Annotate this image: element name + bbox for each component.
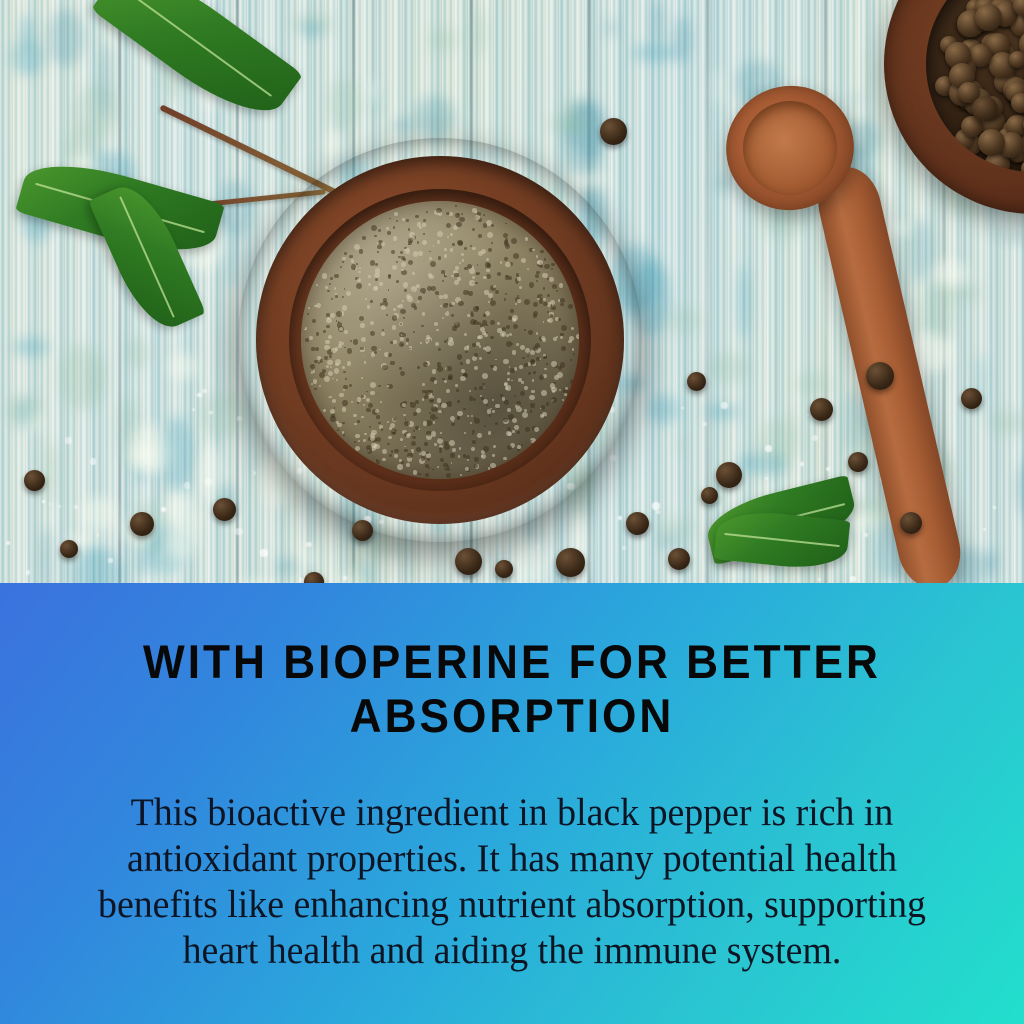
- pepper-granule: [421, 325, 424, 328]
- paint-chip: [977, 354, 985, 416]
- paint-chip: [301, 22, 323, 37]
- pepper-granule: [476, 272, 479, 275]
- pepper-granule: [400, 337, 404, 341]
- pepper-granule: [436, 417, 438, 419]
- pepper-granule: [413, 251, 419, 257]
- pepper-granule: [373, 286, 378, 291]
- pepper-granule: [334, 368, 340, 374]
- pepper-granule: [488, 248, 492, 252]
- pepper-granule: [444, 248, 446, 250]
- pepper-granule: [503, 457, 507, 461]
- pepper-granule: [505, 293, 507, 295]
- pepper-granule: [342, 342, 344, 344]
- pepper-granule: [458, 301, 463, 306]
- pepper-granule: [474, 353, 478, 357]
- pepper-granule: [413, 470, 418, 475]
- pepper-granule: [389, 218, 391, 220]
- pepper-granule: [322, 273, 328, 279]
- pepper-granule: [400, 438, 403, 441]
- pepper-granule: [347, 361, 351, 365]
- pepper-granule: [334, 407, 336, 409]
- pepper-granule: [435, 342, 439, 346]
- pepper-granule: [471, 447, 475, 451]
- pepper-granule: [434, 380, 438, 384]
- pepper-granule: [560, 303, 563, 306]
- paint-chip: [100, 44, 112, 118]
- pepper-granule: [481, 454, 486, 459]
- pepper-powder-bowl: [238, 138, 642, 542]
- pepper-granule: [509, 366, 511, 368]
- pepper-granule: [417, 241, 420, 244]
- body-copy: This bioactive ingredient in black peppe…: [23, 790, 1001, 974]
- pepper-granule: [552, 390, 555, 393]
- pepper-granule: [528, 330, 533, 335]
- salt-fleck: [58, 505, 61, 508]
- pepper-granule: [331, 298, 333, 300]
- pepper-granule: [391, 250, 395, 254]
- pepper-granule: [463, 408, 466, 411]
- pepper-granule: [460, 376, 466, 382]
- pepper-granule: [429, 251, 431, 253]
- pepper-granule: [506, 325, 510, 329]
- pepper-granule: [486, 269, 489, 272]
- pepper-granule: [511, 380, 513, 382]
- salt-fleck: [6, 541, 10, 545]
- pepper-granule: [423, 219, 426, 222]
- pepper-granule: [396, 220, 398, 222]
- pepper-granule: [337, 423, 341, 427]
- pepper-granule: [361, 337, 366, 342]
- salt-fleck: [818, 578, 821, 581]
- pepper-granule: [468, 291, 472, 295]
- pepper-granule: [382, 365, 388, 371]
- pepper-granule: [329, 283, 331, 285]
- pepper-granule: [406, 463, 410, 467]
- pepper-granule: [359, 267, 361, 269]
- pepper-granule: [469, 280, 474, 285]
- salt-fleck: [209, 411, 212, 414]
- pepper-granule: [328, 335, 332, 339]
- pepper-granule: [327, 290, 330, 293]
- pepper-granule: [424, 442, 428, 446]
- pepper-granule: [472, 247, 476, 251]
- pepper-granule: [456, 389, 459, 392]
- pepper-granule: [339, 393, 344, 398]
- pepper-granule: [541, 405, 545, 409]
- pepper-granule: [469, 268, 475, 274]
- pepper-granule: [351, 259, 355, 263]
- pepper-granule: [463, 454, 467, 458]
- pepper-granule: [437, 366, 443, 372]
- pepper-granule: [430, 261, 436, 267]
- pepper-granule: [533, 302, 538, 307]
- pepper-granule: [570, 359, 572, 361]
- pepper-granule: [503, 359, 508, 364]
- pepper-granule: [336, 379, 338, 381]
- peppercorn: [24, 470, 45, 491]
- pepper-granule: [368, 275, 370, 277]
- pepper-granule: [335, 295, 338, 298]
- pepper-granule: [558, 366, 562, 370]
- pepper-granule: [548, 318, 553, 323]
- pepper-granule: [486, 324, 488, 326]
- pepper-granule: [482, 373, 488, 379]
- pepper-granule: [423, 233, 425, 235]
- pepper-granule: [433, 245, 435, 247]
- pepper-granule: [316, 284, 318, 286]
- pepper-granule: [418, 296, 421, 299]
- pepper-granule: [392, 265, 397, 270]
- pepper-granule: [371, 430, 376, 435]
- pepper-granule: [357, 420, 360, 423]
- pepper-granule: [311, 347, 315, 351]
- paint-chip: [790, 408, 799, 458]
- paint-chip: [413, 96, 456, 139]
- pepper-granule: [551, 263, 555, 267]
- pepper-granule: [475, 215, 479, 219]
- pepper-granule: [354, 423, 356, 425]
- pepper-granule: [374, 235, 377, 238]
- headline-line-2: ABSORPTION: [31, 689, 994, 743]
- pepper-granule: [368, 283, 372, 287]
- pepper-granule: [402, 218, 405, 221]
- peppercorn: [556, 548, 585, 577]
- headline: WITH BIOPERINE FOR BETTER ABSORPTION: [31, 635, 994, 743]
- pepper-granule: [370, 382, 376, 388]
- pepper-granule: [488, 431, 492, 435]
- pepper-granule: [342, 257, 345, 260]
- paint-chip: [909, 219, 931, 284]
- pepper-granule: [527, 268, 529, 270]
- paint-chip: [162, 416, 193, 493]
- pepper-granule: [375, 409, 379, 413]
- pepper-granule: [495, 404, 500, 409]
- pepper-granule: [387, 385, 389, 387]
- pepper-granule: [406, 434, 410, 438]
- pepper-granule: [381, 428, 384, 431]
- pepper-granule: [406, 219, 409, 222]
- pepper-granule: [479, 357, 483, 361]
- pepper-granule: [511, 238, 517, 244]
- pepper-granule: [360, 347, 363, 350]
- pepper-granule: [402, 300, 404, 302]
- paint-chip: [677, 434, 685, 454]
- pepper-granule: [344, 330, 348, 334]
- pepper-granule: [531, 390, 535, 394]
- pepper-granule: [312, 319, 316, 323]
- pepper-granule: [544, 264, 550, 270]
- pepper-granule: [428, 467, 430, 469]
- pepper-granule: [368, 403, 373, 408]
- pepper-granule: [459, 447, 461, 449]
- pepper-granule: [568, 304, 573, 309]
- pepper-granule: [358, 440, 360, 442]
- pepper-granule: [457, 354, 462, 359]
- pepper-granule: [407, 453, 412, 458]
- pepper-granule: [432, 369, 437, 374]
- salt-fleck: [184, 482, 191, 489]
- pepper-granule: [430, 414, 436, 420]
- pepper-granule: [451, 422, 455, 426]
- pepper-granule: [408, 238, 414, 244]
- pepper-granule: [467, 459, 469, 461]
- pepper-granule: [308, 307, 310, 309]
- pepper-granule: [556, 290, 558, 292]
- pepper-granule: [458, 241, 462, 245]
- pepper-granule: [437, 231, 443, 237]
- pepper-granule: [472, 276, 475, 279]
- pepper-granule: [446, 223, 451, 228]
- pepper-granule: [536, 280, 538, 282]
- salt-fleck: [610, 455, 616, 461]
- pepper-granule: [527, 355, 529, 357]
- pepper-granule: [504, 383, 507, 386]
- pepper-granule: [533, 314, 537, 318]
- pepper-granule: [444, 254, 448, 258]
- pepper-granule: [412, 436, 416, 440]
- pepper-granule: [342, 422, 345, 425]
- pepper-granule: [412, 272, 415, 275]
- pepper-granule: [492, 454, 494, 456]
- salt-fleck: [235, 528, 243, 536]
- pepper-granule: [414, 306, 418, 310]
- whole-peppercorns: [926, 0, 1024, 172]
- pepper-granule: [375, 263, 378, 266]
- pepper-granule: [477, 264, 479, 266]
- pepper-granule: [387, 421, 389, 423]
- pepper-granule: [329, 396, 331, 398]
- paint-chip: [739, 265, 750, 338]
- pepper-granule: [388, 436, 391, 439]
- spoon-hollow: [731, 90, 848, 207]
- pepper-granule: [495, 422, 498, 425]
- pepper-granule: [483, 399, 488, 404]
- pepper-granule: [440, 432, 442, 434]
- pepper-granule: [313, 379, 317, 383]
- pepper-granule: [406, 342, 408, 344]
- pepper-granule: [561, 325, 567, 331]
- paint-chip: [43, 440, 59, 506]
- pepper-granule: [532, 379, 535, 382]
- pepper-granule: [537, 260, 542, 265]
- pepper-granule: [386, 227, 389, 230]
- pepper-granule: [361, 377, 363, 379]
- pepper-granule: [376, 415, 379, 418]
- pepper-granule: [446, 473, 451, 478]
- pepper-granule: [330, 277, 334, 281]
- pepper-granule: [478, 234, 482, 238]
- pepper-granule: [474, 387, 476, 389]
- pepper-granule: [335, 347, 338, 350]
- salt-fleck: [299, 578, 304, 583]
- salt-fleck: [800, 462, 803, 465]
- salt-fleck: [90, 458, 96, 464]
- pepper-granule: [524, 329, 526, 331]
- pepper-granule: [434, 322, 438, 326]
- pepper-granule: [309, 336, 313, 340]
- pepper-granule: [402, 403, 406, 407]
- pepper-granule: [562, 399, 564, 401]
- salt-fleck: [260, 549, 268, 557]
- pepper-granule: [484, 387, 486, 389]
- pepper-granule: [418, 473, 420, 475]
- pepper-granule: [431, 431, 437, 437]
- pepper-granule: [366, 408, 370, 412]
- pepper-granule: [482, 383, 485, 386]
- pepper-granule: [420, 342, 422, 344]
- salt-fleck: [161, 507, 166, 512]
- peppercorn: [810, 398, 833, 421]
- pepper-granule: [440, 458, 444, 462]
- pepper-granule: [466, 359, 471, 364]
- pepper-granule: [416, 447, 421, 452]
- pepper-granule: [490, 336, 493, 339]
- pepper-granule: [399, 342, 405, 348]
- pepper-granule: [517, 449, 519, 451]
- pepper-granule: [314, 388, 316, 390]
- pepper-granule: [507, 408, 511, 412]
- pepper-granule: [521, 258, 526, 263]
- pepper-granule: [535, 343, 540, 348]
- pepper-granule: [374, 273, 380, 279]
- paint-chip: [367, 79, 381, 106]
- pepper-granule: [449, 212, 453, 216]
- paint-chip: [137, 551, 148, 577]
- pepper-granule: [379, 349, 381, 351]
- pepper-granule: [490, 300, 496, 306]
- pepper-granule: [397, 464, 402, 469]
- pepper-granule: [334, 274, 339, 279]
- pepper-granule: [436, 329, 439, 332]
- pepper-granule: [546, 363, 548, 365]
- pepper-granule: [344, 288, 346, 290]
- pepper-granule: [389, 454, 392, 457]
- salt-fleck: [850, 576, 856, 582]
- pepper-granule: [391, 450, 393, 452]
- peppercorn: [213, 498, 236, 521]
- salt-fleck: [652, 502, 660, 510]
- pepper-granule: [396, 261, 398, 263]
- pepper-granule: [452, 448, 456, 452]
- pepper-granule: [491, 224, 494, 227]
- pepper-granule: [374, 351, 377, 354]
- paint-chip: [783, 576, 834, 583]
- pepper-granule: [516, 401, 521, 406]
- pepper-granule: [374, 444, 380, 450]
- pepper-granule: [409, 348, 411, 350]
- pepper-granule: [543, 321, 545, 323]
- pepper-granule: [426, 211, 428, 213]
- pepper-granule: [507, 445, 512, 450]
- pepper-granule: [334, 287, 337, 290]
- ground-pepper: [301, 201, 580, 480]
- pepper-granule: [367, 448, 373, 454]
- paint-chip: [163, 487, 200, 561]
- paint-chip: [714, 68, 722, 105]
- pepper-granule: [319, 372, 325, 378]
- pepper-granule: [408, 260, 413, 265]
- pepper-granule: [379, 282, 383, 286]
- pepper-granule: [367, 305, 370, 308]
- pepper-granule: [422, 223, 425, 226]
- pepper-granule: [416, 284, 420, 288]
- pepper-granule: [524, 299, 530, 305]
- pepper-granule: [444, 380, 447, 383]
- pepper-granule: [452, 243, 455, 246]
- pepper-granule: [342, 407, 347, 412]
- pepper-granule: [353, 414, 357, 418]
- pepper-granule: [342, 400, 347, 405]
- pepper-granule: [512, 350, 516, 354]
- pepper-granule: [564, 393, 567, 396]
- pepper-granule: [423, 292, 425, 294]
- pepper-granule: [534, 427, 539, 432]
- pepper-granule: [364, 433, 366, 435]
- pepper-granule: [310, 364, 315, 369]
- pepper-granule: [497, 322, 500, 325]
- pepper-granule: [388, 353, 392, 357]
- pepper-granule: [442, 280, 444, 282]
- pepper-granule: [492, 399, 494, 401]
- pepper-granule: [474, 457, 479, 462]
- pepper-granule: [393, 226, 395, 228]
- salt-fleck: [253, 471, 256, 474]
- pepper-granule: [492, 410, 495, 413]
- pepper-granule: [447, 236, 449, 238]
- pepper-granule: [452, 326, 456, 330]
- pepper-granule: [437, 438, 443, 444]
- pepper-granule: [483, 223, 488, 228]
- pepper-granule: [487, 263, 491, 267]
- salt-fleck: [721, 402, 728, 409]
- pepper-granule: [349, 384, 353, 388]
- pepper-granule: [394, 454, 399, 459]
- salt-fleck: [205, 478, 212, 485]
- pepper-granule: [342, 366, 345, 369]
- pepper-granule: [327, 317, 330, 320]
- body-line-3: benefits like enhancing nutrient absorpt…: [23, 882, 1001, 928]
- body-line-2: antioxidant properties. It has many pote…: [23, 836, 1001, 882]
- pepper-granule: [443, 303, 448, 308]
- pepper-granule: [460, 474, 463, 477]
- pepper-granule: [457, 417, 459, 419]
- pepper-granule: [439, 447, 442, 450]
- pepper-granule: [403, 282, 408, 287]
- pepper-granule: [437, 398, 441, 402]
- pepper-granule: [370, 300, 373, 303]
- pepper-granule: [454, 280, 459, 285]
- pepper-granule: [528, 372, 531, 375]
- pepper-granule: [479, 386, 483, 390]
- pepper-granule: [464, 267, 467, 270]
- pepper-granule: [483, 276, 486, 279]
- pepper-granule: [403, 414, 405, 416]
- pepper-granule: [445, 273, 447, 275]
- pepper-granule: [445, 311, 450, 316]
- pepper-granule: [544, 416, 546, 418]
- pepper-granule: [406, 338, 409, 341]
- pepper-granule: [467, 345, 469, 347]
- pepper-granule: [473, 398, 477, 402]
- pepper-granule: [485, 346, 491, 352]
- paint-chip: [428, 28, 457, 53]
- body-line-1: This bioactive ingredient in black peppe…: [23, 790, 1001, 836]
- pepper-granule: [390, 423, 395, 428]
- headline-line-1: WITH BIOPERINE FOR BETTER: [31, 635, 994, 689]
- salt-fleck: [237, 416, 242, 421]
- pepper-granule: [503, 418, 507, 422]
- pepper-granule: [444, 340, 447, 343]
